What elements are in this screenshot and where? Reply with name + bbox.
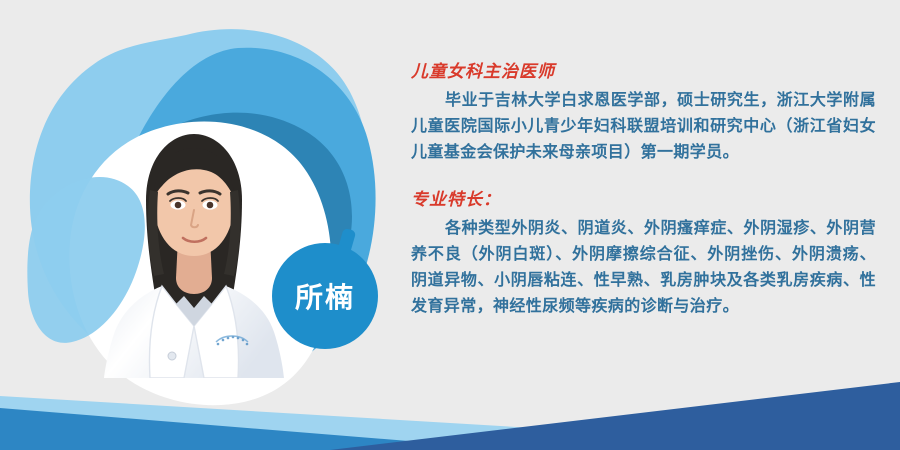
photo-coat-button: [168, 352, 176, 360]
section-title-specialty: 专业特长：: [411, 188, 876, 212]
section-body-specialty: 各种类型外阴炎、阴道炎、外阴瘙痒症、外阴湿疹、外阴营养不良（外阴白斑）、外阴摩擦…: [411, 216, 876, 320]
band-navy-shape: [330, 382, 900, 450]
section-title-position: 儿童女科主治医师: [411, 60, 876, 84]
doctor-name-badge: 所楠: [272, 243, 378, 349]
section-spacer: [411, 166, 876, 188]
doctor-name-label: 所楠: [272, 243, 378, 349]
section-body-education: 毕业于吉林大学白求恩医学部，硕士研究生，浙江大学附属儿童医院国际小儿青少年妇科联…: [411, 88, 876, 166]
doctor-photo: [88, 128, 298, 378]
doctor-profile-poster: 所楠 儿童女科主治医师 毕业于吉林大学白求恩医学部，硕士研究生，浙江大学附属儿童…: [0, 0, 900, 450]
doctor-bio-column: 儿童女科主治医师 毕业于吉林大学白求恩医学部，硕士研究生，浙江大学附属儿童医院国…: [411, 60, 876, 320]
